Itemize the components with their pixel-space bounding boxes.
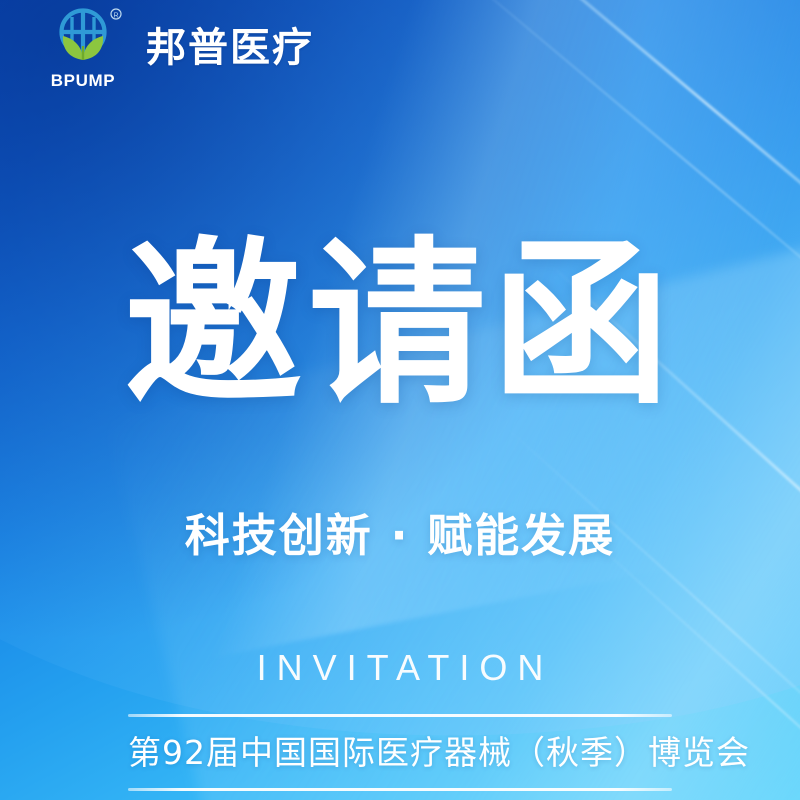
brand-logo-block: R BPUMP 邦普医疗	[42, 8, 314, 88]
footer-block: 第92届中国国际医疗器械（秋季）博览会	[128, 714, 672, 791]
invitation-poster: R BPUMP 邦普医疗 邀请函 科技创新 · 赋能发展 INVITATION …	[0, 0, 800, 800]
invitation-english-label: INVITATION	[0, 650, 800, 686]
bpump-wordmark: BPUMP	[42, 72, 124, 89]
hero-subtitle: 科技创新 · 赋能发展	[0, 513, 800, 558]
svg-text:R: R	[113, 12, 118, 19]
footer-rule-bottom	[128, 788, 672, 791]
brand-name: 邦普医疗	[146, 28, 314, 68]
page-title: 邀请函	[0, 236, 800, 414]
bpump-logo-icon: R BPUMP	[42, 8, 124, 88]
event-name: 第92届中国国际医疗器械（秋季）博览会	[128, 717, 672, 788]
